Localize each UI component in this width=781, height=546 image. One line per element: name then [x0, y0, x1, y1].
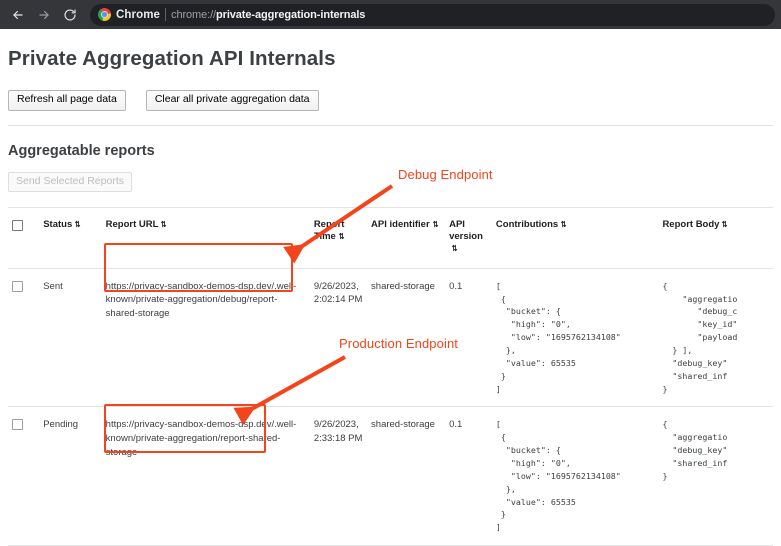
annotation-arrows: [0, 0, 781, 540]
arrow-debug-endpoint: [298, 186, 392, 249]
arrow-production-endpoint: [248, 357, 345, 411]
